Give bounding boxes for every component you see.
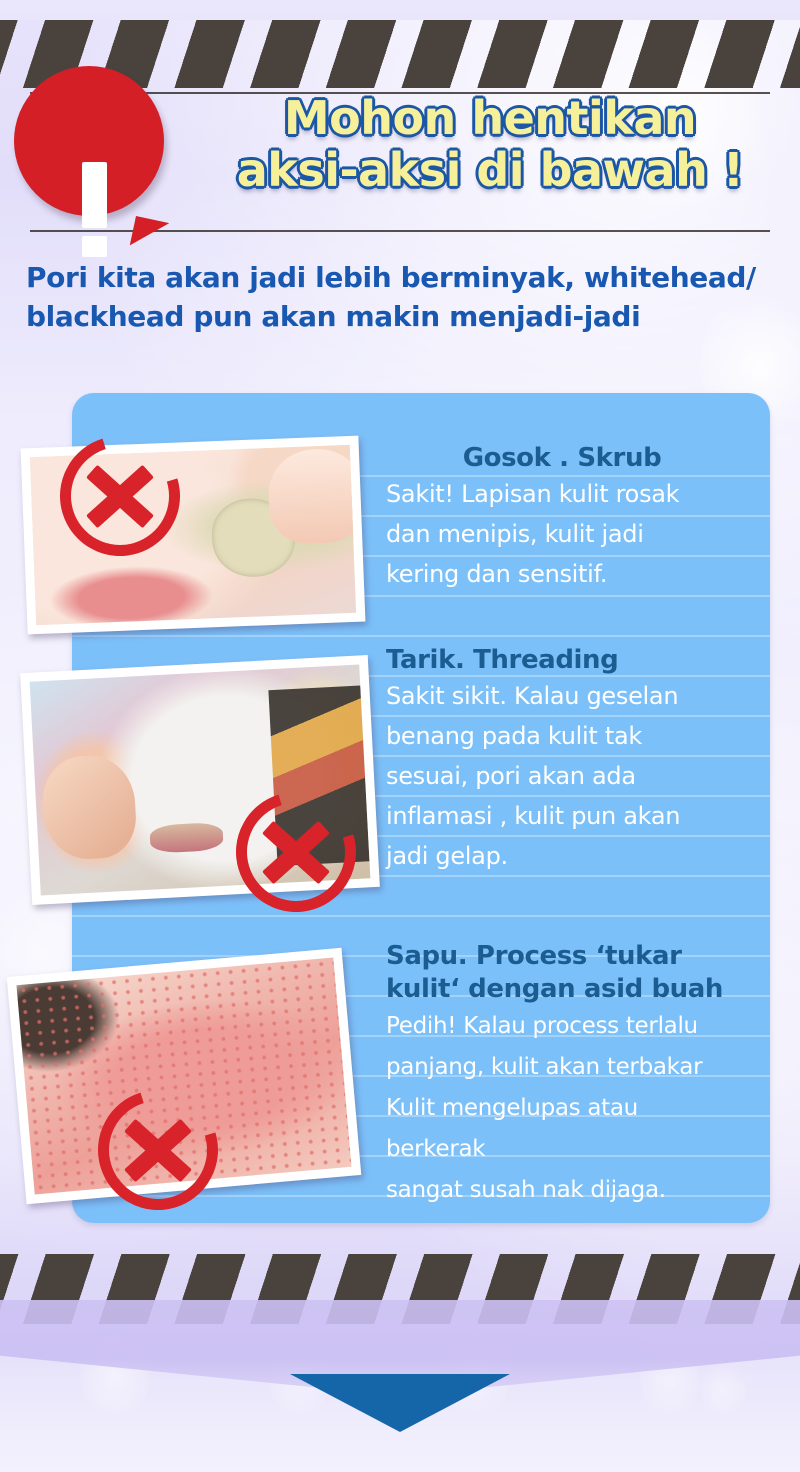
section-title: Sapu. Process ‘tukar kulit‘ dengan asid … xyxy=(386,940,738,1006)
section-body-line: dan menipis, kulit jadi xyxy=(386,514,738,554)
section-title: Tarik. Threading xyxy=(386,645,738,676)
section-body-line: inflamasi , kulit pun akan xyxy=(386,796,738,836)
panel-rule xyxy=(72,635,770,637)
finger-shape xyxy=(267,448,356,546)
page-subtitle-line-2: blackhead pun akan makin menjadi-jadi xyxy=(26,297,776,336)
page-title-line-1: Mohon hentikan xyxy=(284,91,696,145)
infographic-page: Mohon hentikan aksi-aksi di bawah ! Pori… xyxy=(0,0,800,1472)
section-body-line: sangat susah nak dijaga. xyxy=(386,1170,738,1211)
section-body-line: sesuai, pori akan ada xyxy=(386,756,738,796)
section-body-line: Sakit sikit. Kalau geselan xyxy=(386,676,738,716)
page-title-line-2: aksi-aksi di bawah ! xyxy=(190,144,790,196)
section-tarik-threading: Tarik. Threading Sakit sikit. Kalau gese… xyxy=(386,645,738,876)
section-body-line: kering dan sensitif. xyxy=(386,554,738,594)
red-x-circle-icon xyxy=(98,1090,218,1210)
stripe-top-mask xyxy=(0,0,800,20)
page-title: Mohon hentikan aksi-aksi di bawah ! xyxy=(190,92,790,196)
section-gosok-skrub: Gosok . Skrub Sakit! Lapisan kulit rosak… xyxy=(386,443,738,594)
panel-rule xyxy=(72,915,770,917)
bokeh-light xyxy=(700,1360,746,1418)
section-body-line: jadi gelap. xyxy=(386,836,738,876)
section-body-line: Sakit! Lapisan kulit rosak xyxy=(386,474,738,514)
exclamation-mark-icon xyxy=(82,162,107,228)
page-subtitle: Pori kita akan jadi lebih berminyak, whi… xyxy=(26,258,776,336)
warning-bubble xyxy=(14,66,164,216)
section-body-line: Pedih! Kalau process terlalu xyxy=(386,1006,738,1047)
section-body-line: panjang, kulit akan terbakar xyxy=(386,1047,738,1088)
section-body-line: Kulit mengelupas atau berkerak xyxy=(386,1088,738,1170)
red-x-circle-icon xyxy=(60,436,180,556)
section-title-line-2: kulit‘ dengan asid buah xyxy=(386,973,738,1006)
section-body: Sakit! Lapisan kulit rosak dan menipis, … xyxy=(386,474,738,594)
exclamation-dot-icon xyxy=(82,236,107,257)
red-x-circle-icon xyxy=(236,792,356,912)
page-subtitle-line-1: Pori kita akan jadi lebih berminyak, whi… xyxy=(26,258,776,297)
hand-shape xyxy=(40,754,138,861)
section-body-line: benang pada kulit tak xyxy=(386,716,738,756)
section-sapu-asid-buah: Sapu. Process ‘tukar kulit‘ dengan asid … xyxy=(386,940,738,1211)
section-body: Sakit sikit. Kalau geselan benang pada k… xyxy=(386,676,738,876)
mouth-shape xyxy=(149,822,223,854)
section-body: Pedih! Kalau process terlalu panjang, ku… xyxy=(386,1006,738,1211)
down-arrow-icon xyxy=(290,1374,510,1432)
warning-bubble-tail xyxy=(130,216,169,252)
section-title: Gosok . Skrub xyxy=(386,443,738,474)
section-title-line-1: Sapu. Process ‘tukar xyxy=(386,940,738,973)
